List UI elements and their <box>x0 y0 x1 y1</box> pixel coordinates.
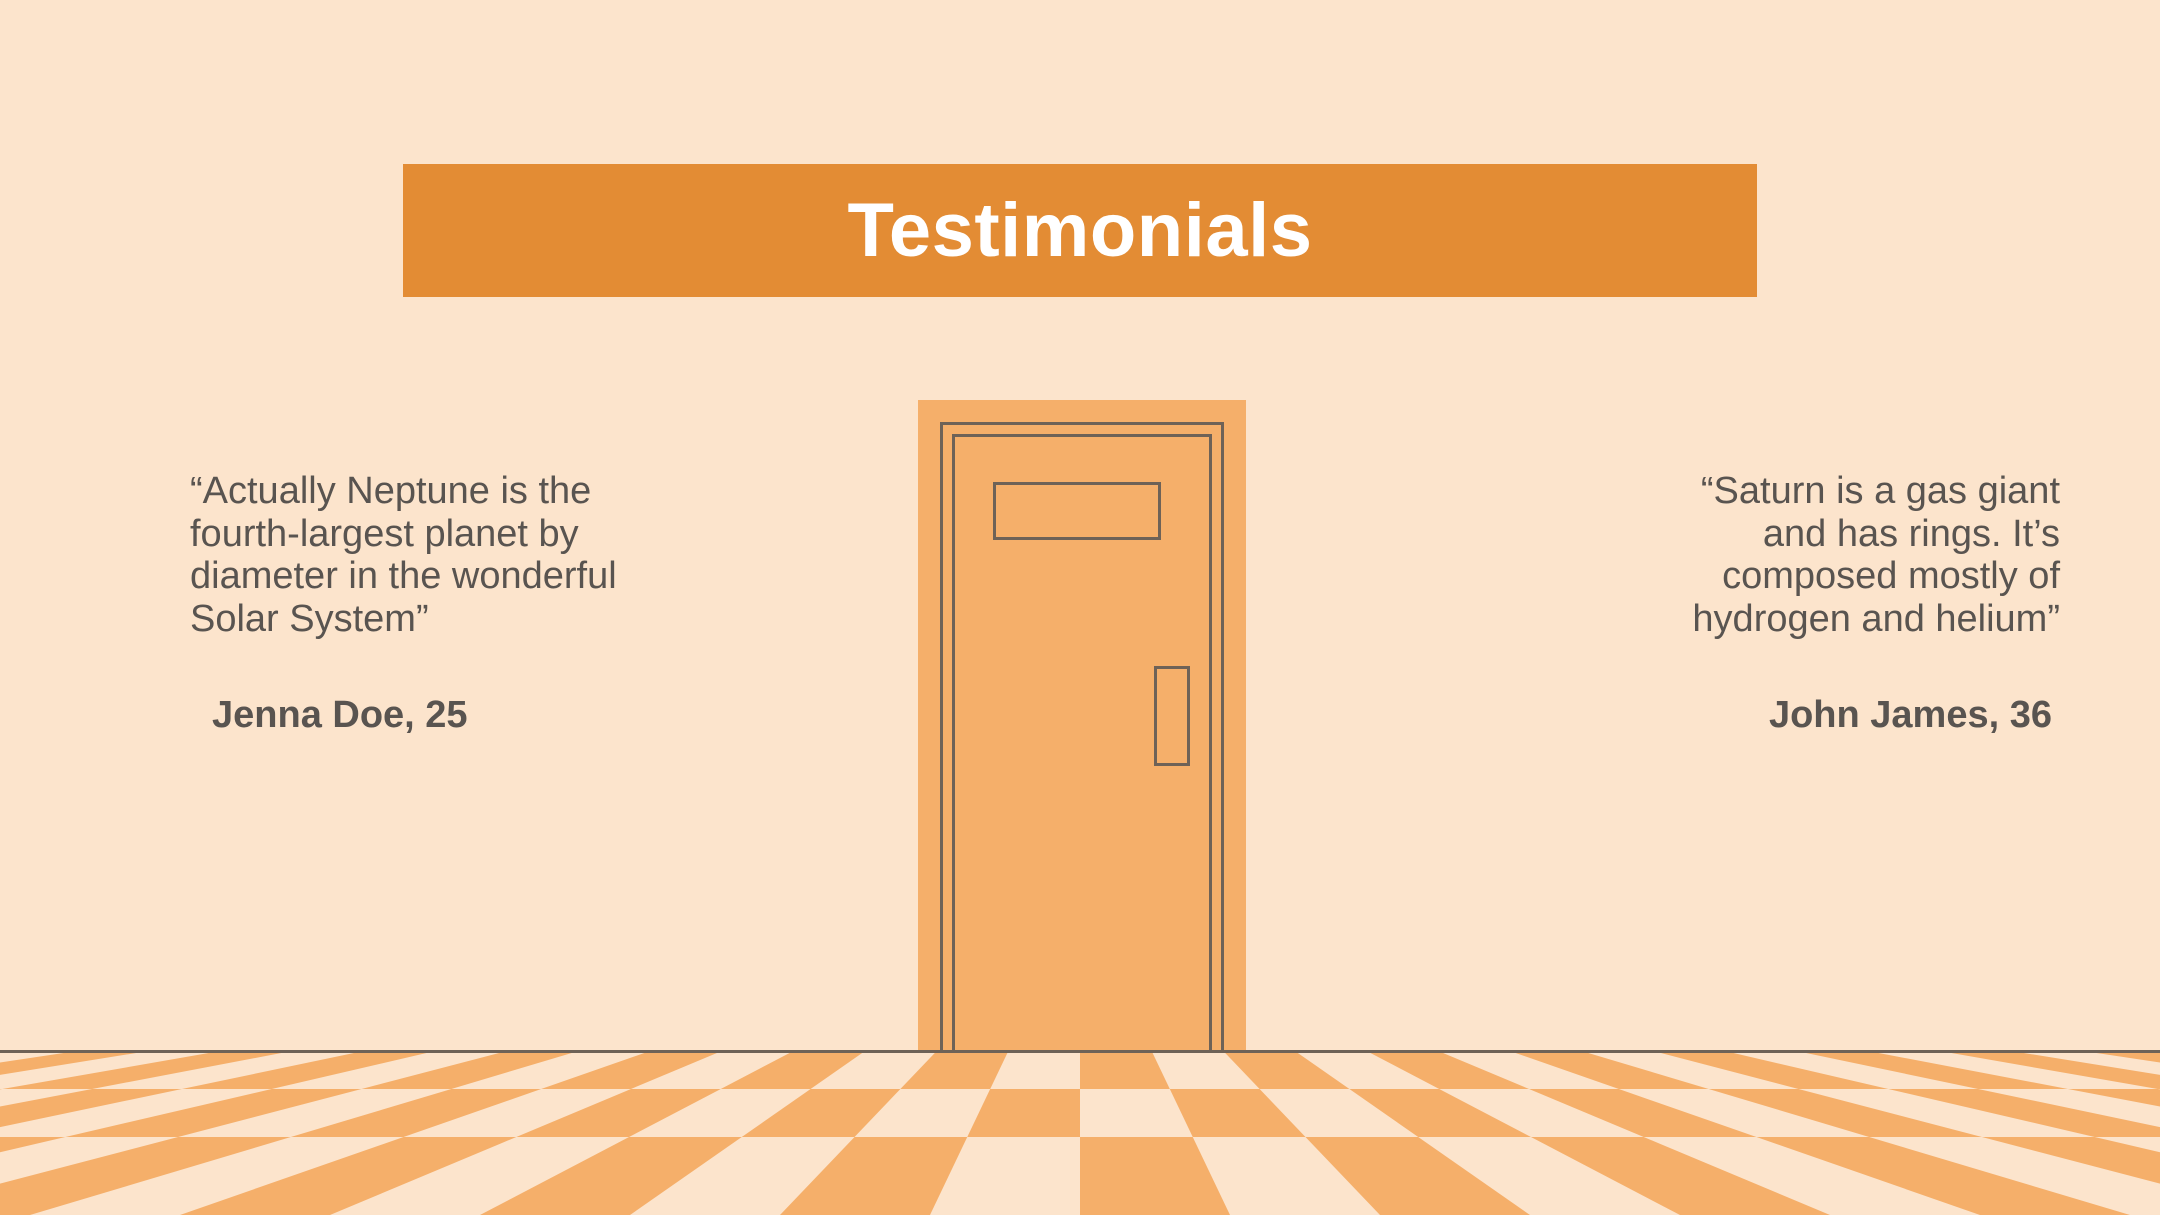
testimonial-author: John James, 36 <box>1500 694 2060 737</box>
door-handle-icon <box>1154 666 1190 766</box>
horizon-line <box>0 1050 2160 1053</box>
slide-canvas: Testimonials “Actually Neptune is the fo… <box>0 0 2160 1215</box>
page-title: Testimonials <box>848 193 1313 269</box>
testimonial-quote: “Actually Neptune is the fourth-largest … <box>190 470 750 640</box>
door-illustration <box>918 400 1246 1051</box>
testimonial-quote: “Saturn is a gas giant and has rings. It… <box>1500 470 2060 640</box>
testimonial-right: “Saturn is a gas giant and has rings. It… <box>1500 470 2060 737</box>
title-banner: Testimonials <box>403 164 1757 297</box>
testimonial-left: “Actually Neptune is the fourth-largest … <box>190 470 750 737</box>
floor-tiles-svg <box>0 1051 2160 1215</box>
testimonial-author: Jenna Doe, 25 <box>190 694 750 737</box>
checkerboard-floor <box>0 1051 2160 1215</box>
door-window-icon <box>993 482 1161 540</box>
